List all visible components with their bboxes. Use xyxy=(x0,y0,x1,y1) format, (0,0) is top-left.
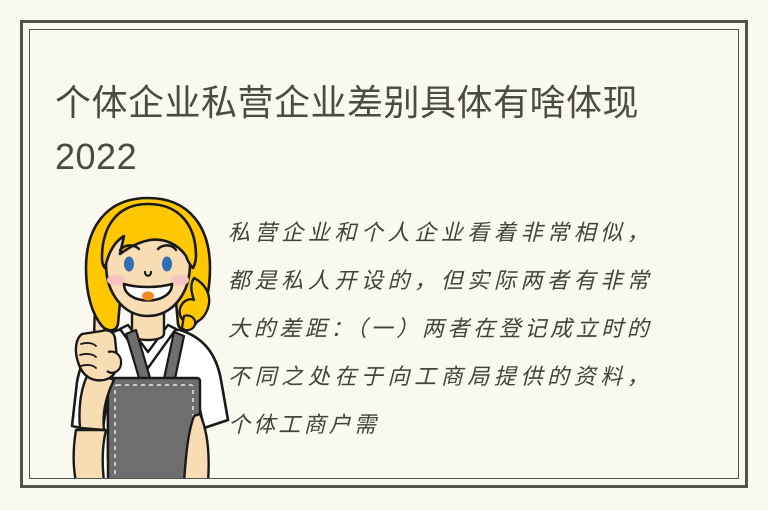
article-page: 个体企业私营企业差别具体有啥体现2022 xyxy=(0,0,768,510)
article-body-text: 私营企业和个人企业看着非常相似，都是私人开设的，但实际两者有非常大的差距：（一）… xyxy=(228,210,652,450)
page-title: 个体企业私营企业差别具体有啥体现2022 xyxy=(55,76,675,184)
cartoon-woman-pointing-up-icon xyxy=(58,192,230,478)
content-clip-area: 个体企业私营企业差别具体有啥体现2022 xyxy=(30,30,738,478)
article-illustration xyxy=(58,192,230,478)
